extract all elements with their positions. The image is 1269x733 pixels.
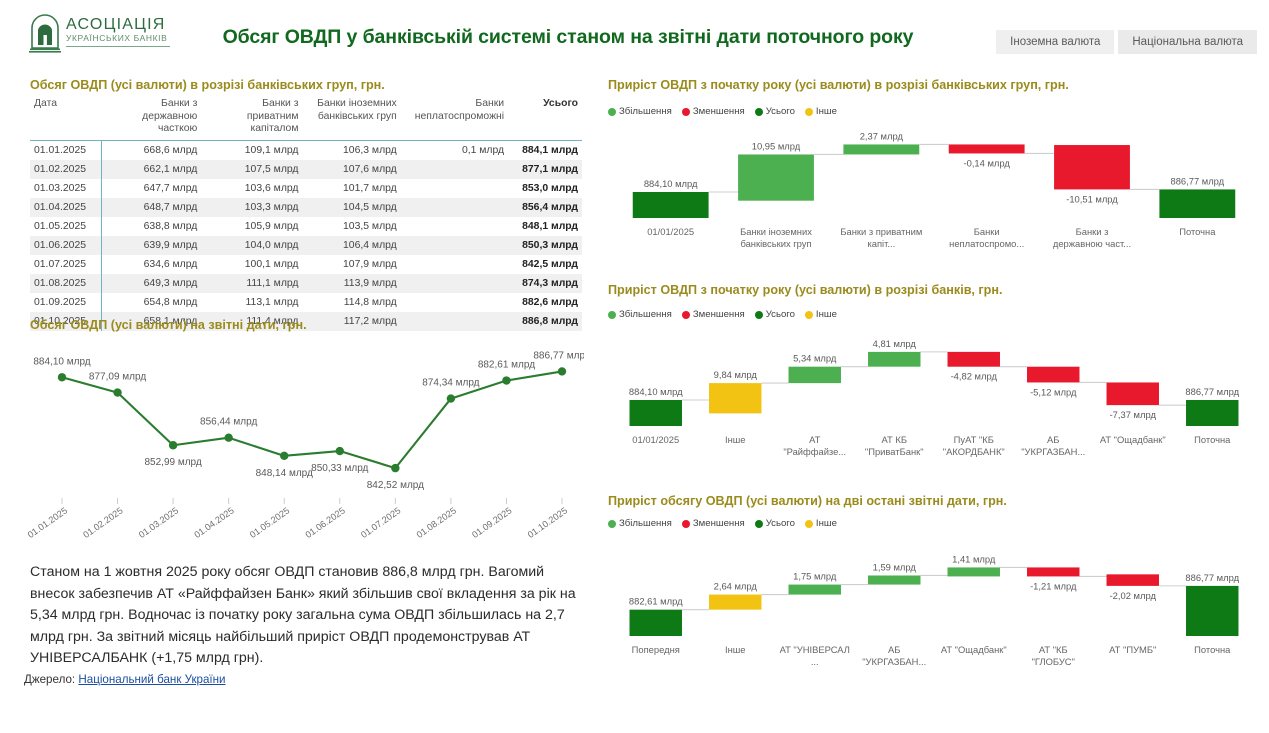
- cell-foreign-banks: 114,8 млрд: [312, 293, 410, 312]
- legend-dot-icon: [608, 311, 616, 319]
- svg-text:886,77 млрд: 886,77 млрд: [1170, 175, 1224, 186]
- legend-label: Збільшення: [619, 518, 672, 529]
- cell-date: 01.02.2025: [30, 160, 102, 179]
- cell-date: 01.07.2025: [30, 255, 102, 274]
- cell-private-banks: 107,5 млрд: [211, 160, 312, 179]
- svg-text:01.01.2025: 01.01.2025: [26, 505, 69, 540]
- svg-text:1,41 млрд: 1,41 млрд: [952, 553, 996, 564]
- svg-text:01.02.2025: 01.02.2025: [81, 505, 124, 540]
- svg-text:"УКРГАЗБАН...: "УКРГАЗБАН...: [1021, 446, 1085, 457]
- cell-private-banks: 111,1 млрд: [211, 274, 312, 293]
- table-row: 01.07.2025634,6 млрд100,1 млрд107,9 млрд…: [30, 255, 582, 274]
- arch-building-icon: [28, 14, 62, 54]
- svg-text:Поточна: Поточна: [1179, 226, 1216, 237]
- cell-date: 01.06.2025: [30, 236, 102, 255]
- legend-label: Інше: [816, 309, 837, 320]
- svg-text:9,84 млрд: 9,84 млрд: [714, 369, 758, 380]
- svg-text:884,10 млрд: 884,10 млрд: [644, 178, 698, 189]
- cell-date: 01.05.2025: [30, 217, 102, 236]
- svg-text:856,44 млрд: 856,44 млрд: [200, 417, 257, 428]
- cell-total: 874,3 млрд: [518, 274, 582, 293]
- cell-total: 856,4 млрд: [518, 198, 582, 217]
- legend-label: Зменшення: [693, 106, 745, 117]
- svg-text:АТ КБ: АТ КБ: [882, 434, 907, 445]
- cell-state-banks: 649,3 млрд: [102, 274, 212, 293]
- th-total: Усього: [518, 96, 582, 140]
- svg-text:852,99 млрд: 852,99 млрд: [144, 457, 201, 468]
- svg-text:884,10 млрд: 884,10 млрд: [629, 386, 683, 397]
- svg-text:-5,12 млрд: -5,12 млрд: [1030, 386, 1077, 397]
- svg-text:-2,02 млрд: -2,02 млрд: [1110, 590, 1157, 601]
- svg-text:-7,37 млрд: -7,37 млрд: [1110, 409, 1157, 420]
- svg-text:Банки з: Банки з: [1076, 226, 1109, 237]
- svg-text:"Райффайзе...: "Райффайзе...: [783, 446, 846, 457]
- cell-private-banks: 103,3 млрд: [211, 198, 312, 217]
- cell-date: 01.08.2025: [30, 274, 102, 293]
- svg-text:01.09.2025: 01.09.2025: [470, 505, 513, 540]
- svg-text:Інше: Інше: [725, 434, 746, 445]
- cell-state-banks: 638,8 млрд: [102, 217, 212, 236]
- legend-label: Усього: [766, 518, 795, 529]
- cell-state-banks: 648,7 млрд: [102, 198, 212, 217]
- svg-text:-10,51 млрд: -10,51 млрд: [1066, 193, 1118, 204]
- currency-toggle[interactable]: Іноземна валюта Національна валюта: [996, 30, 1257, 54]
- legend-dot-icon: [682, 108, 690, 116]
- wf3-legend: ЗбільшенняЗменшенняУсьогоІнше: [608, 518, 844, 529]
- svg-text:886,77 млрд: 886,77 млрд: [1185, 572, 1239, 583]
- svg-text:882,61 млрд: 882,61 млрд: [478, 360, 535, 371]
- legend-item-2[interactable]: Усього: [755, 309, 795, 320]
- legend-label: Усього: [766, 309, 795, 320]
- logo-divider: [66, 46, 170, 47]
- cell-total: 842,5 млрд: [518, 255, 582, 274]
- cell-foreign-banks: 101,7 млрд: [312, 179, 410, 198]
- svg-text:...: ...: [811, 656, 819, 667]
- svg-text:1,75 млрд: 1,75 млрд: [793, 571, 837, 582]
- cell-insolvent-banks: 0,1 млрд: [411, 140, 518, 160]
- page-title: Обсяг ОВДП у банківській системі станом …: [178, 26, 958, 49]
- svg-text:10,95 млрд: 10,95 млрд: [752, 140, 801, 151]
- svg-text:АТ "УНІВЕРСАЛ: АТ "УНІВЕРСАЛ: [780, 644, 850, 655]
- button-national-currency[interactable]: Національна валюта: [1118, 30, 1257, 54]
- cell-foreign-banks: 113,9 млрд: [312, 274, 410, 293]
- svg-text:877,09 млрд: 877,09 млрд: [89, 372, 146, 383]
- svg-text:Попередня: Попередня: [632, 644, 680, 655]
- th-state-banks: Банки з державною часткою: [102, 96, 212, 140]
- cell-state-banks: 647,7 млрд: [102, 179, 212, 198]
- cell-foreign-banks: 104,5 млрд: [312, 198, 410, 217]
- svg-text:01.08.2025: 01.08.2025: [415, 505, 458, 540]
- table-row: 01.09.2025654,8 млрд113,1 млрд114,8 млрд…: [30, 293, 582, 312]
- cell-insolvent-banks: [411, 160, 518, 179]
- legend-item-1[interactable]: Зменшення: [682, 106, 745, 117]
- svg-text:-4,82 млрд: -4,82 млрд: [951, 371, 998, 382]
- svg-text:неплатоспромо...: неплатоспромо...: [949, 238, 1024, 249]
- cell-state-banks: 634,6 млрд: [102, 255, 212, 274]
- svg-text:Банки з приватним: Банки з приватним: [840, 226, 922, 237]
- svg-text:"ПриватБанк": "ПриватБанк": [865, 446, 924, 457]
- svg-text:01.04.2025: 01.04.2025: [192, 505, 235, 540]
- legend-dot-icon: [755, 311, 763, 319]
- legend-dot-icon: [805, 108, 813, 116]
- legend-item-2[interactable]: Усього: [755, 518, 795, 529]
- cell-state-banks: 662,1 млрд: [102, 160, 212, 179]
- svg-text:капіт...: капіт...: [867, 238, 895, 249]
- legend-label: Збільшення: [619, 106, 672, 117]
- cell-insolvent-banks: [411, 217, 518, 236]
- cell-state-banks: 668,6 млрд: [102, 140, 212, 160]
- cell-foreign-banks: 106,3 млрд: [312, 140, 410, 160]
- svg-text:01/01/2025: 01/01/2025: [647, 226, 694, 237]
- legend-dot-icon: [608, 520, 616, 528]
- button-foreign-currency[interactable]: Іноземна валюта: [996, 30, 1114, 54]
- cell-date: 01.09.2025: [30, 293, 102, 312]
- wf1-chart: 884,10 млрд10,95 млрд2,37 млрд-0,14 млрд…: [608, 124, 1258, 264]
- logo-line-1: АСОЦІАЦІЯ: [66, 16, 170, 33]
- cell-total: 884,1 млрд: [518, 140, 582, 160]
- table-header-row: Дата Банки з державною часткою Банки з п…: [30, 96, 582, 140]
- svg-text:-0,14 млрд: -0,14 млрд: [963, 157, 1010, 168]
- svg-text:01.10.2025: 01.10.2025: [526, 505, 569, 540]
- wf2-legend: ЗбільшенняЗменшенняУсьогоІнше: [608, 309, 844, 320]
- cell-state-banks: 654,8 млрд: [102, 293, 212, 312]
- cell-private-banks: 113,1 млрд: [211, 293, 312, 312]
- dashboard-page: АСОЦІАЦІЯ УКРАЇНСЬКИХ БАНКІВ Обсяг ОВДП …: [0, 0, 1269, 733]
- svg-text:ПуАТ "КБ: ПуАТ "КБ: [954, 434, 994, 445]
- svg-text:АТ "Ощадбанк": АТ "Ощадбанк": [1100, 434, 1166, 445]
- legend-dot-icon: [682, 311, 690, 319]
- table-row: 01.08.2025649,3 млрд111,1 млрд113,9 млрд…: [30, 274, 582, 293]
- svg-text:874,34 млрд: 874,34 млрд: [422, 378, 479, 389]
- svg-text:АТ: АТ: [809, 434, 821, 445]
- svg-text:-1,21 млрд: -1,21 млрд: [1030, 580, 1077, 591]
- legend-item-0[interactable]: Збільшення: [608, 518, 672, 529]
- line-chart-svg: 884,10 млрд877,09 млрд852,99 млрд856,44 …: [24, 318, 584, 548]
- wf2-chart: 884,10 млрд9,84 млрд5,34 млрд4,81 млрд-4…: [608, 328, 1258, 478]
- cell-insolvent-banks: [411, 274, 518, 293]
- cell-foreign-banks: 107,6 млрд: [312, 160, 410, 179]
- svg-text:882,61 млрд: 882,61 млрд: [629, 596, 683, 607]
- source-line: Джерело: Національний банк України: [24, 673, 226, 686]
- cell-foreign-banks: 103,5 млрд: [312, 217, 410, 236]
- legend-label: Інше: [816, 106, 837, 117]
- logo-line-2: УКРАЇНСЬКИХ БАНКІВ: [66, 33, 170, 44]
- ovdp-table: Дата Банки з державною часткою Банки з п…: [30, 96, 582, 331]
- svg-text:"ГЛОБУС": "ГЛОБУС": [1032, 656, 1075, 667]
- svg-text:АБ: АБ: [1047, 434, 1059, 445]
- svg-text:АБ: АБ: [888, 644, 900, 655]
- legend-label: Збільшення: [619, 309, 672, 320]
- source-label: Джерело:: [24, 673, 75, 686]
- wf3-chart: 882,61 млрд2,64 млрд1,75 млрд1,59 млрд1,…: [608, 538, 1258, 688]
- th-insolvent-banks: Банки неплатоспроможні: [411, 96, 518, 140]
- svg-text:01.06.2025: 01.06.2025: [304, 505, 347, 540]
- svg-text:Банки іноземних: Банки іноземних: [740, 226, 812, 237]
- legend-item-2[interactable]: Усього: [755, 106, 795, 117]
- cell-total: 877,1 млрд: [518, 160, 582, 179]
- cell-insolvent-banks: [411, 179, 518, 198]
- th-date: Дата: [30, 96, 102, 140]
- legend-item-0[interactable]: Збільшення: [608, 106, 672, 117]
- cell-private-banks: 104,0 млрд: [211, 236, 312, 255]
- legend-label: Зменшення: [693, 518, 745, 529]
- wf2-svg: 884,10 млрд9,84 млрд5,34 млрд4,81 млрд-4…: [608, 328, 1258, 478]
- svg-text:Банки: Банки: [974, 226, 1000, 237]
- table-row: 01.04.2025648,7 млрд103,3 млрд104,5 млрд…: [30, 198, 582, 217]
- table-row: 01.05.2025638,8 млрд105,9 млрд103,5 млрд…: [30, 217, 582, 236]
- narrative-text: Станом на 1 жовтня 2025 року обсяг ОВДП …: [30, 562, 586, 670]
- cell-insolvent-banks: [411, 293, 518, 312]
- legend-label: Усього: [766, 106, 795, 117]
- legend-item-0[interactable]: Збільшення: [608, 309, 672, 320]
- ovdp-line-chart: 884,10 млрд877,09 млрд852,99 млрд856,44 …: [24, 318, 584, 548]
- svg-text:886,77 млрд: 886,77 млрд: [533, 350, 584, 361]
- cell-date: 01.03.2025: [30, 179, 102, 198]
- table-row: 01.01.2025668,6 млрд109,1 млрд106,3 млрд…: [30, 140, 582, 160]
- cell-insolvent-banks: [411, 198, 518, 217]
- svg-text:"АКОРДБАНК": "АКОРДБАНК": [943, 446, 1005, 457]
- wf1-title: Приріст ОВДП з початку року (усі валюти)…: [608, 78, 1069, 92]
- th-foreign-banks: Банки іноземних банківських груп: [312, 96, 410, 140]
- table-header: Дата Банки з державною часткою Банки з п…: [30, 96, 582, 140]
- cell-private-banks: 109,1 млрд: [211, 140, 312, 160]
- svg-text:Поточна: Поточна: [1194, 434, 1231, 445]
- svg-text:850,33 млрд: 850,33 млрд: [311, 463, 368, 474]
- svg-text:"УКРГАЗБАН...: "УКРГАЗБАН...: [862, 656, 926, 667]
- table-section-title: Обсяг ОВДП (усі валюти) в розрізі банків…: [30, 78, 385, 92]
- cell-foreign-banks: 106,4 млрд: [312, 236, 410, 255]
- cell-total: 853,0 млрд: [518, 179, 582, 198]
- legend-item-3[interactable]: Інше: [805, 309, 837, 320]
- svg-text:2,64 млрд: 2,64 млрд: [714, 581, 758, 592]
- svg-text:державною част...: державною част...: [1053, 238, 1131, 249]
- legend-label: Інше: [816, 518, 837, 529]
- svg-text:5,34 млрд: 5,34 млрд: [793, 353, 837, 364]
- legend-item-1[interactable]: Зменшення: [682, 309, 745, 320]
- cell-total: 848,1 млрд: [518, 217, 582, 236]
- svg-text:АТ "Ощадбанк": АТ "Ощадбанк": [941, 644, 1007, 655]
- table-row: 01.06.2025639,9 млрд104,0 млрд106,4 млрд…: [30, 236, 582, 255]
- source-link[interactable]: Національний банк України: [78, 673, 225, 686]
- cell-date: 01.01.2025: [30, 140, 102, 160]
- cell-date: 01.04.2025: [30, 198, 102, 217]
- th-private-banks: Банки з приватним капіталом: [211, 96, 312, 140]
- svg-text:884,10 млрд: 884,10 млрд: [33, 356, 90, 367]
- svg-text:банківських груп: банківських груп: [740, 238, 811, 249]
- legend-dot-icon: [805, 520, 813, 528]
- svg-text:01.03.2025: 01.03.2025: [137, 505, 180, 540]
- table-row: 01.03.2025647,7 млрд103,6 млрд101,7 млрд…: [30, 179, 582, 198]
- svg-text:Поточна: Поточна: [1194, 644, 1231, 655]
- cell-total: 882,6 млрд: [518, 293, 582, 312]
- svg-text:АТ "КБ: АТ "КБ: [1039, 644, 1068, 655]
- svg-text:4,81 млрд: 4,81 млрд: [873, 338, 917, 349]
- cell-state-banks: 639,9 млрд: [102, 236, 212, 255]
- cell-total: 850,3 млрд: [518, 236, 582, 255]
- cell-insolvent-banks: [411, 255, 518, 274]
- cell-foreign-banks: 107,9 млрд: [312, 255, 410, 274]
- association-logo: АСОЦІАЦІЯ УКРАЇНСЬКИХ БАНКІВ: [28, 12, 168, 58]
- cell-private-banks: 105,9 млрд: [211, 217, 312, 236]
- svg-text:2,37 млрд: 2,37 млрд: [860, 130, 904, 141]
- cell-private-banks: 103,6 млрд: [211, 179, 312, 198]
- legend-dot-icon: [755, 108, 763, 116]
- legend-label: Зменшення: [693, 309, 745, 320]
- wf2-title: Приріст ОВДП з початку року (усі валюти)…: [608, 283, 1002, 297]
- svg-text:842,52 млрд: 842,52 млрд: [367, 480, 424, 491]
- legend-item-3[interactable]: Інше: [805, 518, 837, 529]
- svg-text:01.07.2025: 01.07.2025: [359, 505, 402, 540]
- svg-text:АТ "ПУМБ": АТ "ПУМБ": [1109, 644, 1156, 655]
- svg-text:886,77 млрд: 886,77 млрд: [1185, 386, 1239, 397]
- wf3-title: Приріст обсягу ОВДП (усі валюти) на дві …: [608, 494, 1007, 508]
- cell-private-banks: 100,1 млрд: [211, 255, 312, 274]
- svg-text:1,59 млрд: 1,59 млрд: [873, 561, 917, 572]
- legend-dot-icon: [608, 108, 616, 116]
- legend-dot-icon: [755, 520, 763, 528]
- svg-text:848,14 млрд: 848,14 млрд: [256, 468, 313, 479]
- svg-text:01.05.2025: 01.05.2025: [248, 505, 291, 540]
- svg-text:Інше: Інше: [725, 644, 746, 655]
- header: АСОЦІАЦІЯ УКРАЇНСЬКИХ БАНКІВ Обсяг ОВДП …: [0, 0, 1269, 66]
- svg-text:01/01/2025: 01/01/2025: [632, 434, 679, 445]
- cell-insolvent-banks: [411, 236, 518, 255]
- table-body: 01.01.2025668,6 млрд109,1 млрд106,3 млрд…: [30, 140, 582, 331]
- ovdp-table-container: Дата Банки з державною часткою Банки з п…: [30, 96, 582, 331]
- wf1-legend: ЗбільшенняЗменшенняУсьогоІнше: [608, 106, 844, 117]
- logo-text: АСОЦІАЦІЯ УКРАЇНСЬКИХ БАНКІВ: [66, 16, 170, 47]
- legend-dot-icon: [805, 311, 813, 319]
- wf3-svg: 882,61 млрд2,64 млрд1,75 млрд1,59 млрд1,…: [608, 538, 1258, 688]
- table-row: 01.02.2025662,1 млрд107,5 млрд107,6 млрд…: [30, 160, 582, 179]
- legend-dot-icon: [682, 520, 690, 528]
- legend-item-1[interactable]: Зменшення: [682, 518, 745, 529]
- legend-item-3[interactable]: Інше: [805, 106, 837, 117]
- wf1-svg: 884,10 млрд10,95 млрд2,37 млрд-0,14 млрд…: [608, 124, 1258, 264]
